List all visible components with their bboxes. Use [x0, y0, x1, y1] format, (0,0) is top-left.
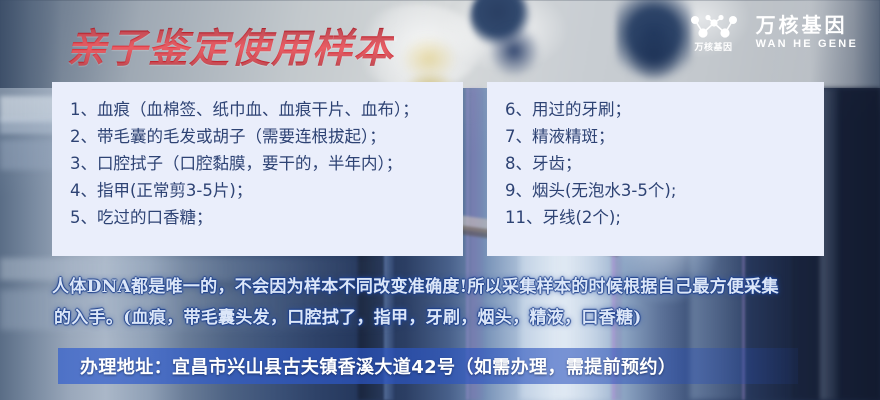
poster-root: 亲子鉴定使用样本: [0, 0, 880, 400]
logo-wordmark: 万核基因 WAN HE GENE: [756, 16, 858, 50]
logo-name-cn: 万核基因: [756, 16, 848, 37]
list-item: 3、口腔拭子（口腔黏膜，要干的，半年内）；: [70, 150, 447, 177]
logo-mark-label: 万核基因: [695, 43, 733, 52]
note-line-1: 人体DNA都是唯一的，不会因为样本不同改变准确度!所以采集样本的时候根据自己最方…: [52, 272, 842, 303]
list-item: 6、用过的牙刷；: [505, 96, 808, 123]
molecule-network-icon: [688, 14, 740, 40]
list-item: 4、指甲(正常剪3-5片)；: [70, 177, 447, 204]
list-item: 7、精液精斑；: [505, 123, 808, 150]
sample-list-right-panel: 6、用过的牙刷； 7、精液精斑； 8、牙齿； 9、烟头(无泡水3-5个); 11…: [487, 82, 824, 256]
note-paragraph: 人体DNA都是唯一的，不会因为样本不同改变准确度!所以采集样本的时候根据自己最方…: [52, 272, 842, 334]
list-item: 1、血痕（血棉签、纸巾血、血痕干片、血布）；: [70, 96, 447, 123]
list-item: 9、烟头(无泡水3-5个);: [505, 177, 808, 204]
page-title: 亲子鉴定使用样本: [66, 16, 394, 74]
list-item: 11、牙线(2个);: [505, 204, 808, 231]
list-item: 5、吃过的口香糖；: [70, 204, 447, 231]
brand-logo: 万核基因 万核基因 WAN HE GENE: [688, 14, 858, 52]
logo-name-en: WAN HE GENE: [756, 39, 858, 50]
address-bar: 办理地址：宜昌市兴山县古夫镇香溪大道42号（如需办理，需提前预约）: [58, 348, 798, 384]
note-line-2: 的入手。(血痕，带毛囊头发，口腔拭了，指甲，牙刷，烟头，精液，口香糖): [52, 303, 842, 334]
list-item: 2、带毛囊的毛发或胡子（需要连根拔起）；: [70, 123, 447, 150]
sample-list-left-panel: 1、血痕（血棉签、纸巾血、血痕干片、血布）； 2、带毛囊的毛发或胡子（需要连根拔…: [52, 82, 463, 256]
logo-mark: 万核基因: [688, 14, 740, 52]
address-text: 办理地址：宜昌市兴山县古夫镇香溪大道42号（如需办理，需提前预约）: [58, 353, 676, 379]
list-item: 8、牙齿；: [505, 150, 808, 177]
